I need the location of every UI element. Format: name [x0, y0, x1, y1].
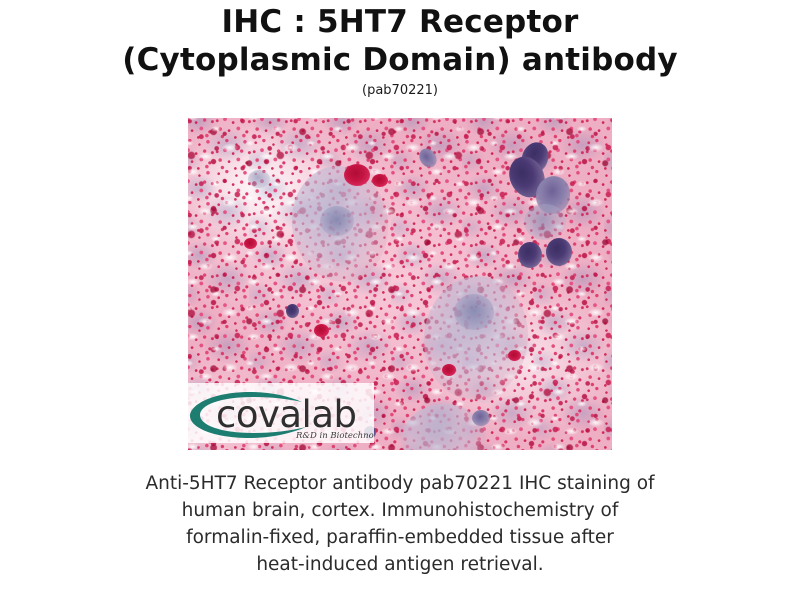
covalab-logo-svg: covalab R&D in Biotechnology: [188, 383, 374, 443]
chromogen-aggregate-6: [244, 238, 257, 249]
glial-nucleus-11: [248, 170, 270, 188]
chromogen-aggregate-1: [344, 164, 370, 186]
covalab-logo-watermark: covalab R&D in Biotechnology: [188, 383, 374, 443]
glial-nucleus-7: [286, 304, 299, 318]
glial-nucleus-4: [524, 204, 566, 240]
neuron-nucleus-2: [454, 294, 494, 330]
chromogen-aggregate-3: [314, 324, 329, 337]
glial-nucleus-6: [546, 238, 572, 266]
neuron-nucleus-1: [320, 206, 354, 236]
title-line-2: (Cytoplasmic Domain) antibody: [0, 41, 800, 79]
glial-nucleus-9: [472, 410, 490, 426]
chromogen-aggregate-5: [508, 350, 521, 361]
figure-caption: Anti-5HT7 Receptor antibody pab70221 IHC…: [60, 470, 740, 578]
caption-line-1: Anti-5HT7 Receptor antibody pab70221 IHC…: [60, 470, 740, 497]
caption-line-2: human brain, cortex. Immunohistochemistr…: [60, 497, 740, 524]
logo-tagline: R&D in Biotechnology: [295, 431, 374, 441]
catalog-number: (pab70221): [0, 79, 800, 99]
caption-line-3: formalin-fixed, paraffin-embedded tissue…: [60, 524, 740, 551]
page-title: IHC : 5HT7 Receptor (Cytoplasmic Domain)…: [0, 0, 800, 99]
title-line-1: IHC : 5HT7 Receptor: [0, 0, 800, 41]
chromogen-aggregate-4: [442, 364, 456, 376]
chromogen-aggregate-2: [372, 174, 388, 187]
caption-line-4: heat-induced antigen retrieval.: [60, 551, 740, 578]
logo-wordmark: covalab: [216, 393, 357, 436]
glial-nucleus-5: [518, 242, 542, 268]
